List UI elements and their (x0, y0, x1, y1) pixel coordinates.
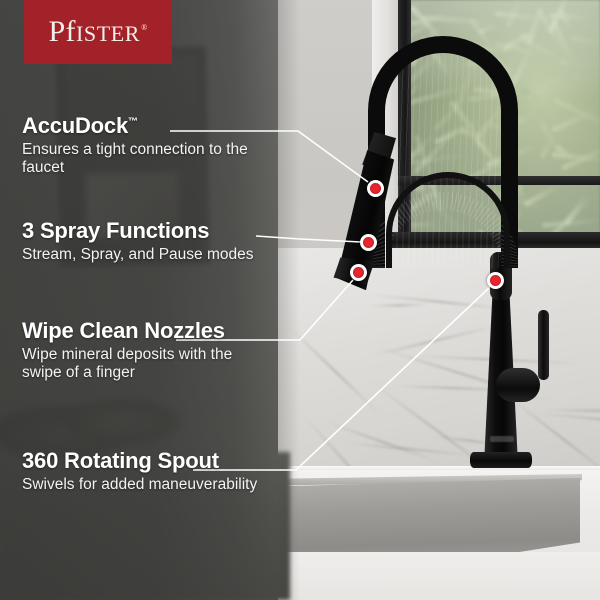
logo-registered-icon: ® (141, 23, 147, 32)
faucet-brand-mark (490, 436, 514, 442)
callout-dot-spray-functions[interactable] (360, 234, 377, 251)
callout-dot-core (353, 267, 364, 278)
faucet-handle-hub (496, 368, 540, 402)
callout-subtitle: Stream, Spray, and Pause modes (22, 246, 272, 265)
logo-smallcaps: ISTER (76, 21, 140, 46)
callout-dot-accudock[interactable] (367, 180, 384, 197)
callout-title: Wipe Clean Nozzles (22, 319, 272, 343)
callout-title-text: AccuDock (22, 113, 128, 138)
callout-title-text: Wipe Clean Nozzles (22, 318, 225, 343)
callout-accudock: AccuDock™ Ensures a tight connection to … (22, 114, 272, 178)
callout-subtitle: Swivels for added maneuverability (22, 476, 272, 495)
callout-subtitle: Wipe mineral deposits with the swipe of … (22, 346, 272, 384)
callout-title: 360 Rotating Spout (22, 449, 272, 473)
pfister-logo-text: PfISTER® (48, 17, 147, 47)
faucet-base (470, 452, 532, 468)
callout-dot-rotating-spout[interactable] (487, 272, 504, 289)
faucet-lever-handle (538, 310, 549, 380)
callout-dot-wipe-clean-nozzles[interactable] (350, 264, 367, 281)
text-panel-overlay (0, 0, 300, 600)
callout-title: AccuDock™ (22, 114, 272, 138)
callout-title-text: 360 Rotating Spout (22, 448, 219, 473)
callout-subtitle: Ensures a tight connection to the faucet (22, 141, 272, 179)
callout-dot-core (370, 183, 381, 194)
callout-spray-functions: 3 Spray Functions Stream, Spray, and Pau… (22, 219, 272, 264)
callout-rotating-spout: 360 Rotating Spout Swivels for added man… (22, 449, 272, 494)
pfister-logo: PfISTER® (24, 0, 172, 64)
product-infographic: PfISTER® AccuDock™ Ensures a tight conne… (0, 0, 600, 600)
callout-wipe-clean-nozzles: Wipe Clean Nozzles Wipe mineral deposits… (22, 319, 272, 383)
callout-title-text: 3 Spray Functions (22, 218, 209, 243)
logo-lead: Pf (48, 15, 75, 48)
trademark-icon: ™ (128, 117, 138, 128)
callout-dot-core (363, 237, 374, 248)
callout-title: 3 Spray Functions (22, 219, 272, 243)
callout-dot-core (490, 275, 501, 286)
